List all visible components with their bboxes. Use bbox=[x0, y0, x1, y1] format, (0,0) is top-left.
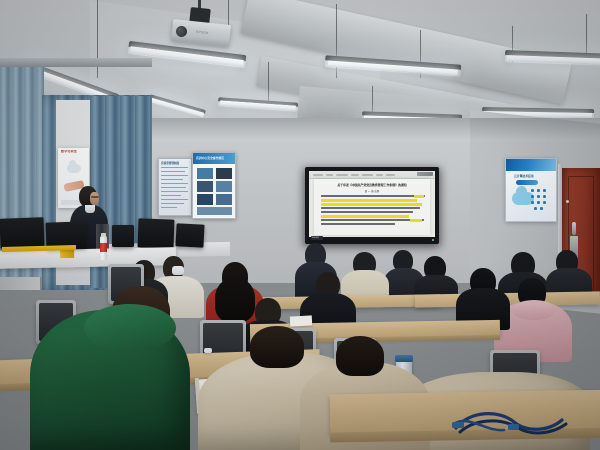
classroom-photo: EPSON 数字化转型 实验室管理制度 bbox=[0, 0, 600, 450]
student-head bbox=[336, 336, 384, 376]
cloud-icon bbox=[67, 164, 81, 173]
poster-header-band bbox=[506, 159, 556, 171]
poster-title: 实训中心安全操作规范 bbox=[196, 156, 224, 160]
door-highlight bbox=[566, 200, 569, 203]
network-cable bbox=[452, 406, 572, 440]
poster-pill-graphic bbox=[516, 180, 538, 185]
face-mask-icon bbox=[172, 266, 184, 275]
tumbler-lid bbox=[395, 355, 413, 362]
poster-cloud-computing: 云计算技术应用 bbox=[505, 158, 557, 222]
student-head bbox=[250, 326, 304, 368]
display-screen[interactable]: 关于印发《中国共产党党员教育管理工作条例》的通知 第 一 章 总则 bbox=[309, 171, 435, 237]
document-title: 关于印发《中国共产党党员教育管理工作条例》的通知 bbox=[320, 183, 424, 187]
paper-sheet bbox=[290, 315, 312, 326]
student-hair bbox=[215, 278, 255, 322]
document-subtitle: 第 一 章 总则 bbox=[320, 189, 424, 193]
curtain-rail bbox=[0, 58, 152, 67]
suspension-wire bbox=[586, 14, 587, 54]
eraser bbox=[204, 348, 212, 353]
computer-monitor bbox=[175, 223, 204, 247]
computer-monitor bbox=[138, 218, 175, 248]
wall-shadow bbox=[110, 118, 600, 140]
presenter-shirt-collar bbox=[85, 205, 95, 213]
door-handle[interactable] bbox=[572, 222, 576, 235]
bottle-label bbox=[100, 243, 107, 252]
bottle-cap bbox=[101, 233, 106, 237]
document-toolbar[interactable] bbox=[309, 171, 435, 179]
computer-monitor bbox=[0, 217, 45, 249]
dot-matrix-graphic bbox=[531, 189, 551, 211]
presenter-face bbox=[90, 192, 99, 205]
power-led-indicator bbox=[432, 239, 434, 241]
poster-title: 实验室管理制度 bbox=[161, 161, 179, 165]
poster-title: 云计算技术应用 bbox=[514, 174, 534, 178]
poster-header-band: 实训中心安全操作规范 bbox=[193, 153, 235, 164]
hood-collar bbox=[84, 304, 176, 352]
poster-header: 数字化转型 bbox=[61, 150, 77, 154]
suspension-wire bbox=[268, 62, 269, 104]
document-page: 关于印发《中国共产党党员教育管理工作条例》的通知 第 一 章 总则 bbox=[314, 179, 430, 235]
poster-lab-rules: 实验室管理制度 bbox=[158, 158, 192, 216]
student-hood bbox=[512, 300, 556, 320]
computer-monitor bbox=[112, 225, 134, 247]
display-brand-logo: seewo bbox=[311, 236, 323, 240]
glasses-icon bbox=[91, 196, 99, 198]
poster-safety-procedures: 实训中心安全操作规范 bbox=[192, 152, 236, 219]
window-controls[interactable] bbox=[417, 172, 433, 176]
